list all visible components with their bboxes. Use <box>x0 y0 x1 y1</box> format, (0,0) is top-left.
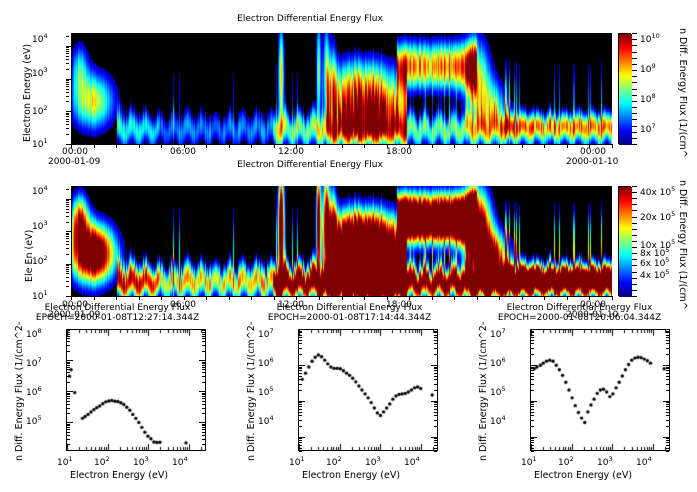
colorbar-tick <box>632 235 637 236</box>
axis-tick <box>202 362 205 363</box>
axis-tick <box>66 264 72 265</box>
axis-tick <box>67 369 70 370</box>
spectrum-1-ytick-0: 107 <box>258 327 274 340</box>
axis-tick <box>229 296 230 300</box>
axis-tick <box>202 396 205 397</box>
axis-tick <box>202 345 205 346</box>
axis-tick <box>299 404 302 405</box>
spectrum-2-ytick-1: 106 <box>490 356 506 369</box>
axis-tick <box>364 296 365 300</box>
panel-top-xtick-1: 06:00 <box>170 147 196 157</box>
axis-tick <box>116 144 117 148</box>
axis-tick <box>531 426 534 427</box>
axis-tick <box>66 204 69 205</box>
axis-tick <box>299 348 302 349</box>
axis-tick <box>202 401 205 402</box>
axis-tick <box>666 343 669 344</box>
axis-tick <box>274 296 275 300</box>
axis-tick <box>66 80 69 81</box>
axis-tick <box>531 438 534 439</box>
panel-mid-cb-tick-1: 20x 105 <box>640 210 675 223</box>
axis-tick <box>139 144 140 148</box>
axis-tick <box>299 368 302 369</box>
axis-tick <box>66 46 72 47</box>
axis-tick <box>67 363 70 364</box>
axis-tick <box>666 376 669 377</box>
panel-top-title: Electron Differential Energy Flux <box>150 14 470 24</box>
axis-tick <box>434 426 437 427</box>
axis-tick <box>202 382 205 383</box>
axis-tick <box>531 376 534 377</box>
axis-tick <box>161 144 162 148</box>
axis-tick <box>202 394 205 395</box>
axis-tick <box>531 354 534 355</box>
colorbar-tick <box>632 76 637 77</box>
panel-top-ytick-1: 103 <box>32 66 48 79</box>
spectrum-2-plot-area <box>530 329 670 451</box>
axis-tick <box>531 445 534 446</box>
axis-tick <box>666 404 669 405</box>
colorbar-tick <box>632 138 637 139</box>
panel-top: Electron Differential Energy Flux Electr… <box>0 0 697 160</box>
spectrum-2-epoch: EPOCH=2000-01-08T20:06:04.344Z <box>472 313 687 323</box>
axis-tick <box>299 379 302 380</box>
axis-tick <box>299 426 302 427</box>
axis-tick <box>531 335 534 336</box>
axis-tick <box>531 343 534 344</box>
axis-tick <box>434 332 437 333</box>
axis-tick <box>299 376 302 377</box>
axis-tick <box>66 254 69 255</box>
axis-tick <box>66 89 69 90</box>
colorbar-tick <box>632 64 637 65</box>
axis-tick <box>666 442 669 443</box>
axis-tick <box>666 426 669 427</box>
axis-tick <box>199 391 205 392</box>
axis-tick <box>434 348 437 349</box>
axis-tick <box>666 348 669 349</box>
axis-tick <box>434 412 437 413</box>
colorbar-tick <box>632 272 637 273</box>
axis-tick <box>666 415 669 416</box>
axis-tick <box>202 351 205 352</box>
axis-tick <box>531 331 534 332</box>
axis-tick <box>202 413 205 414</box>
axis-tick <box>531 440 534 441</box>
axis-tick <box>666 370 669 371</box>
colorbar-tick <box>632 247 637 248</box>
axis-tick <box>434 367 437 368</box>
axis-tick <box>66 189 69 190</box>
axis-tick <box>522 144 523 148</box>
spectrum-2-xtick-1: 102 <box>558 455 574 468</box>
axis-tick <box>299 337 302 338</box>
axis-tick <box>666 412 669 413</box>
spectrum-panel-1: Electron Differential Energy Flux EPOCH=… <box>232 303 464 492</box>
spectrum-2-ytick-3: 104 <box>490 414 506 427</box>
colorbar-tick <box>632 296 637 297</box>
panel-mid-cb-tick-5: 4x 105 <box>640 268 670 281</box>
axis-tick <box>531 406 534 407</box>
axis-tick <box>184 144 185 148</box>
axis-tick <box>666 367 669 368</box>
axis-tick <box>531 365 537 366</box>
axis-tick <box>66 56 69 57</box>
axis-tick <box>66 128 69 129</box>
panel-mid-colorbar-label: n Diff. Energy Flux (1/(cm^ <box>677 180 688 310</box>
axis-tick <box>66 82 69 83</box>
axis-tick <box>199 329 205 330</box>
panel-top-cb-tick-3: 107 <box>640 122 656 135</box>
axis-tick <box>296 144 297 148</box>
axis-tick <box>432 296 433 300</box>
axis-tick <box>434 368 437 369</box>
spectrum-0-ytick-0: 108 <box>26 327 42 340</box>
axis-tick <box>299 390 302 391</box>
axis-tick <box>202 338 205 339</box>
axis-tick <box>531 404 534 405</box>
panel-top-cb-tick-0: 1010 <box>640 32 660 45</box>
axis-tick <box>202 435 205 436</box>
axis-tick <box>666 390 669 391</box>
panel-mid-yaxis-line <box>71 186 72 297</box>
axis-tick <box>666 448 669 449</box>
panel-top-xtick-4: 00:00 <box>580 147 606 157</box>
axis-tick <box>663 365 669 366</box>
spectrum-2-xtick-2: 103 <box>597 455 613 468</box>
colorbar-tick <box>632 278 637 279</box>
spectrum-2-ytick-0: 107 <box>490 327 506 340</box>
spectrum-1-xtick-2: 103 <box>365 455 381 468</box>
colorbar-tick <box>632 198 637 199</box>
axis-tick <box>66 116 69 117</box>
axis-tick <box>666 332 669 333</box>
axis-tick <box>299 340 302 341</box>
axis-tick <box>202 372 205 373</box>
axis-tick <box>434 404 437 405</box>
axis-tick <box>202 427 205 428</box>
panel-top-ytick-0: 104 <box>32 32 48 45</box>
axis-tick <box>202 365 205 366</box>
axis-tick <box>67 401 70 402</box>
axis-tick <box>434 337 437 338</box>
axis-tick <box>342 296 343 300</box>
axis-tick <box>531 384 534 385</box>
spectrum-0-epoch: EPOCH=2000-01-08T12:27:14.344Z <box>10 313 225 323</box>
axis-tick <box>66 200 69 201</box>
axis-tick <box>67 351 70 352</box>
spectrum-0-xtick-2: 103 <box>133 455 149 468</box>
panel-mid-ytick-1: 103 <box>32 219 48 232</box>
axis-tick <box>67 398 70 399</box>
axis-tick <box>66 281 69 282</box>
axis-tick <box>66 248 69 249</box>
spectrum-2-ylabel: n Diff. Energy Flux (1/(cm^2- <box>478 322 489 461</box>
axis-tick <box>531 370 534 371</box>
axis-tick <box>299 335 302 336</box>
colorbar-tick <box>632 107 637 108</box>
axis-tick <box>544 296 545 300</box>
axis-tick <box>206 144 207 148</box>
axis-tick <box>66 113 69 114</box>
axis-tick <box>434 448 437 449</box>
axis-tick <box>434 438 437 439</box>
axis-tick <box>531 437 537 438</box>
colorbar-tick <box>632 144 637 145</box>
axis-tick <box>666 409 669 410</box>
axis-tick <box>67 330 70 331</box>
axis-tick <box>67 394 70 395</box>
axis-tick <box>66 96 69 97</box>
axis-tick <box>66 222 69 223</box>
spectrum-0-xlabel: Electron Energy (eV) <box>70 470 168 481</box>
axis-tick <box>666 373 669 374</box>
colorbar-tick <box>632 89 637 90</box>
axis-tick <box>67 391 73 392</box>
axis-tick <box>434 354 437 355</box>
axis-tick <box>67 425 70 426</box>
axis-tick <box>531 412 534 413</box>
axis-tick <box>66 51 69 52</box>
axis-tick <box>66 206 69 207</box>
axis-tick <box>544 144 545 148</box>
axis-tick <box>299 412 302 413</box>
axis-tick <box>66 209 69 210</box>
axis-tick <box>66 121 69 122</box>
spectrum-1-xtick-0: 101 <box>289 455 305 468</box>
axis-tick <box>531 373 534 374</box>
spectrum-0-ylabel: n Diff. Energy Flux (1/(cm^2- <box>14 322 25 461</box>
axis-tick <box>202 393 205 394</box>
axis-tick <box>202 404 205 405</box>
axis-tick <box>67 338 70 339</box>
axis-tick <box>531 329 537 330</box>
panel-top-xtick-3: 18:00 <box>386 147 412 157</box>
axis-tick <box>299 448 302 449</box>
axis-tick <box>342 144 343 148</box>
axis-tick <box>299 415 302 416</box>
axis-tick <box>67 413 70 414</box>
axis-tick <box>202 363 205 364</box>
axis-tick <box>66 244 69 245</box>
axis-tick <box>67 424 70 425</box>
axis-tick <box>66 49 69 50</box>
axis-tick <box>66 296 72 297</box>
axis-tick <box>431 329 437 330</box>
axis-tick <box>666 340 669 341</box>
colorbar-tick <box>632 186 637 187</box>
axis-tick <box>94 144 95 148</box>
colorbar-tick <box>632 132 637 133</box>
axis-tick <box>202 408 205 409</box>
axis-tick <box>299 332 302 333</box>
spectrum-0-xtick-3: 104 <box>172 455 188 468</box>
axis-tick <box>66 69 69 70</box>
axis-tick <box>531 420 534 421</box>
colorbar-tick <box>632 45 637 46</box>
axis-tick <box>299 354 302 355</box>
panel-top-cb-tick-2: 108 <box>640 92 656 105</box>
axis-tick <box>612 144 613 148</box>
axis-tick <box>66 47 69 48</box>
axis-tick <box>431 401 437 402</box>
axis-tick <box>66 92 69 93</box>
axis-tick <box>531 332 534 333</box>
panel-top-cb-tick-1: 109 <box>640 62 656 75</box>
axis-tick <box>229 144 230 148</box>
axis-tick <box>589 144 590 148</box>
axis-tick <box>202 376 205 377</box>
axis-tick <box>67 432 70 433</box>
axis-tick <box>434 409 437 410</box>
axis-tick <box>66 234 69 235</box>
axis-tick <box>202 332 205 333</box>
axis-tick <box>202 425 205 426</box>
axis-tick <box>663 329 669 330</box>
axis-tick <box>66 124 69 125</box>
axis-tick <box>434 331 437 332</box>
axis-tick <box>531 442 534 443</box>
axis-tick <box>299 440 302 441</box>
axis-tick <box>299 406 302 407</box>
axis-tick <box>66 231 72 232</box>
axis-tick <box>531 337 534 338</box>
spectrum-0-ytick-3: 105 <box>26 414 42 427</box>
axis-tick <box>666 379 669 380</box>
spectrum-1-ytick-3: 104 <box>258 414 274 427</box>
axis-tick <box>499 296 500 300</box>
axis-tick <box>434 440 437 441</box>
axis-tick <box>666 368 669 369</box>
spectrum-0-ytick-1: 107 <box>26 356 42 369</box>
axis-tick <box>666 406 669 407</box>
axis-tick <box>387 144 388 148</box>
axis-tick <box>431 365 437 366</box>
axis-tick <box>666 445 669 446</box>
axis-tick <box>67 382 70 383</box>
axis-tick <box>299 367 302 368</box>
axis-tick <box>431 437 437 438</box>
axis-tick <box>364 144 365 148</box>
axis-tick <box>434 370 437 371</box>
colorbar-tick <box>632 58 637 59</box>
panel-mid-colorbar <box>618 186 631 296</box>
axis-tick <box>202 432 205 433</box>
axis-tick <box>66 241 69 242</box>
axis-tick <box>66 265 69 266</box>
axis-tick <box>67 362 70 363</box>
axis-tick <box>66 267 69 268</box>
axis-tick <box>299 365 305 366</box>
spectrum-2-xlabel: Electron Energy (eV) <box>534 470 632 481</box>
axis-tick <box>67 345 70 346</box>
axis-tick <box>666 337 669 338</box>
axis-tick <box>66 79 72 80</box>
axis-tick <box>666 384 669 385</box>
axis-tick <box>299 409 302 410</box>
spectrum-panel-2: Electron Differential Energy Flux EPOCH=… <box>464 303 697 492</box>
axis-tick <box>299 401 305 402</box>
axis-tick <box>666 335 669 336</box>
spectrum-0-xtick-1: 102 <box>94 455 110 468</box>
axis-tick <box>409 144 410 148</box>
axis-tick <box>202 398 205 399</box>
axis-tick <box>251 144 252 148</box>
axis-tick <box>666 420 669 421</box>
axis-tick <box>202 439 205 440</box>
spectrum-1-xtick-3: 104 <box>404 455 420 468</box>
axis-tick <box>531 368 534 369</box>
axis-tick <box>66 216 69 217</box>
panel-top-ytick-2: 102 <box>32 104 48 117</box>
spectrum-0-title: Electron Differential Energy Flux <box>10 303 225 313</box>
axis-tick <box>67 422 73 423</box>
axis-tick <box>202 336 205 337</box>
panel-top-ytick-3: 101 <box>32 137 48 150</box>
axis-tick <box>66 53 69 54</box>
spectrum-2-ytick-2: 105 <box>490 385 506 398</box>
spectrum-1-ytick-2: 105 <box>258 385 274 398</box>
axis-tick <box>434 442 437 443</box>
colorbar-tick <box>632 70 637 71</box>
axis-tick <box>66 101 69 102</box>
axis-tick <box>161 296 162 300</box>
colorbar-tick <box>632 192 637 193</box>
colorbar-tick <box>632 52 637 53</box>
spectrum-1-xlabel: Electron Energy (eV) <box>302 470 400 481</box>
axis-tick <box>67 334 70 335</box>
colorbar-tick <box>632 241 637 242</box>
axis-tick <box>202 330 205 331</box>
colorbar-tick <box>632 259 637 260</box>
axis-tick <box>202 341 205 342</box>
axis-tick <box>477 144 478 148</box>
axis-tick <box>434 335 437 336</box>
axis-tick <box>434 390 437 391</box>
axis-tick <box>531 401 537 402</box>
axis-tick <box>319 144 320 148</box>
axis-tick <box>434 340 437 341</box>
panel-mid: Electron Differential Energy Flux Ele En… <box>0 160 697 312</box>
colorbar-tick <box>632 39 637 40</box>
spectrum-panel-0: Electron Differential Energy Flux EPOCH=… <box>0 303 232 492</box>
axis-tick <box>94 296 95 300</box>
axis-tick <box>202 424 205 425</box>
colorbar-tick <box>632 113 637 114</box>
axis-tick <box>66 238 69 239</box>
colorbar-tick <box>632 229 637 230</box>
axis-tick <box>66 36 69 37</box>
axis-tick <box>206 296 207 300</box>
spectrum-1-ytick-1: 106 <box>258 356 274 369</box>
axis-tick <box>299 343 302 344</box>
axis-tick <box>251 296 252 300</box>
axis-tick <box>67 360 73 361</box>
axis-tick <box>66 144 72 145</box>
panel-top-xtick-0: 00:00 <box>62 147 88 157</box>
axis-tick <box>434 384 437 385</box>
panel-top-plot-area <box>72 33 612 144</box>
axis-tick <box>66 233 69 234</box>
axis-tick <box>67 336 70 337</box>
panel-top-ylabel: Electron Energy (eV) <box>22 44 33 142</box>
axis-tick <box>66 59 69 60</box>
axis-tick <box>531 448 534 449</box>
axis-tick <box>66 84 69 85</box>
panel-mid-title: Electron Differential Energy Flux <box>150 160 470 170</box>
axis-tick <box>434 415 437 416</box>
axis-tick <box>299 384 302 385</box>
